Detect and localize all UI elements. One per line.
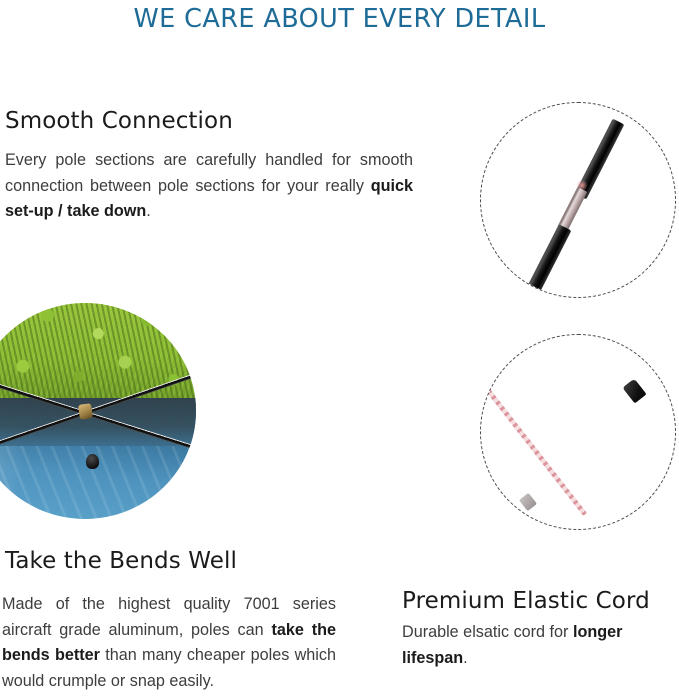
elastic-cord-strand [480, 368, 587, 516]
figure-elastic-shock-cord [480, 334, 676, 530]
smooth-body-tail: . [146, 202, 151, 220]
section-heading-premium-elastic-cord: Premium Elastic Cord [402, 588, 650, 614]
section-body-premium-elastic-cord: Durable elsatic cord for longer lifespan… [402, 620, 674, 671]
section-body-take-the-bends-well: Made of the highest quality 7001 series … [2, 592, 336, 694]
page-title: WE CARE ABOUT EVERY DETAIL [0, 4, 679, 34]
section-body-smooth-connection: Every pole sections are carefully handle… [5, 148, 413, 225]
figure-tent-crossed-poles-photo [0, 303, 196, 519]
grass-background [0, 303, 196, 405]
smooth-body-lead: Every pole sections are carefully handle… [5, 151, 413, 195]
elastic-cord-illustration [481, 335, 675, 529]
tent-photo-stage [0, 303, 196, 519]
elastic-cord-ferrule-foot [519, 493, 537, 511]
infographic-page: WE CARE ABOUT EVERY DETAIL Smooth Connec… [0, 0, 679, 697]
tent-pole-clip [86, 454, 99, 469]
cord-body-lead: Durable elsatic cord for [402, 623, 573, 641]
figure-pole-ferrule-joint [480, 102, 676, 298]
pole-joint-illustration [481, 103, 675, 297]
pole-cross-hub [78, 403, 93, 420]
cord-body-tail: . [463, 649, 468, 667]
pole-lower-segment [523, 224, 572, 298]
pole-ferrule-sleeve [558, 187, 588, 231]
section-heading-take-the-bends-well: Take the Bends Well [5, 548, 237, 574]
elastic-cord-end-cap [622, 379, 646, 404]
section-heading-smooth-connection: Smooth Connection [5, 108, 233, 134]
